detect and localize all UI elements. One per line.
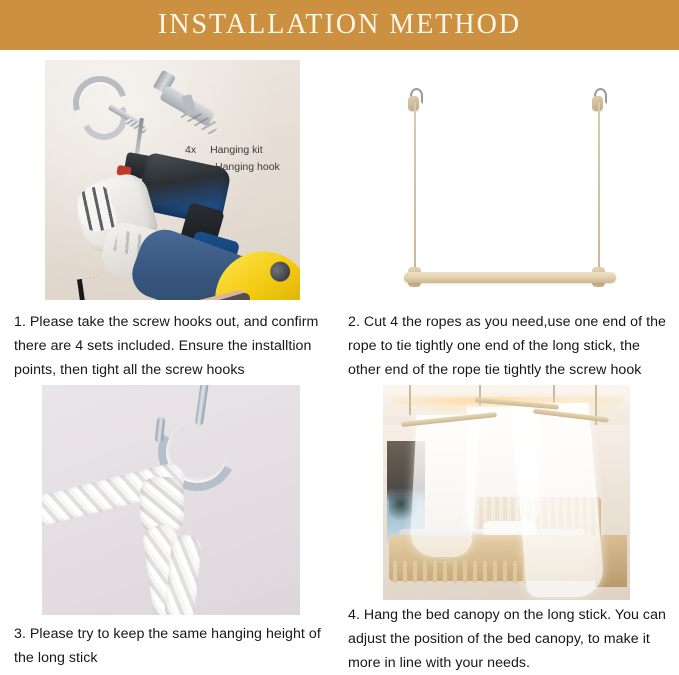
- step-4-caption: 4. Hang the bed canopy on the long stick…: [348, 603, 676, 675]
- step-3-photo: [42, 385, 300, 615]
- step-1-caption: 1. Please take the screw hooks out, and …: [14, 310, 336, 382]
- header-banner: INSTALLATION METHOD: [0, 0, 679, 50]
- bed-side-rail: [393, 561, 533, 583]
- step-1-photo: 4xHanging kit Hanging hook: [45, 60, 300, 300]
- step-2-photo: [360, 60, 660, 300]
- rope-left: [414, 102, 416, 274]
- step-3-caption: 3. Please try to keep the same hanging h…: [14, 622, 336, 670]
- drilling-scene: [63, 124, 263, 300]
- canopy-rope-1: [409, 385, 411, 415]
- page-title: INSTALLATION METHOD: [158, 9, 521, 41]
- rope-right: [598, 102, 600, 274]
- step-2-caption: 2. Cut 4 the ropes as you need,use one e…: [348, 310, 676, 382]
- step-4-photo: [383, 385, 630, 600]
- wooden-long-stick: [404, 272, 616, 283]
